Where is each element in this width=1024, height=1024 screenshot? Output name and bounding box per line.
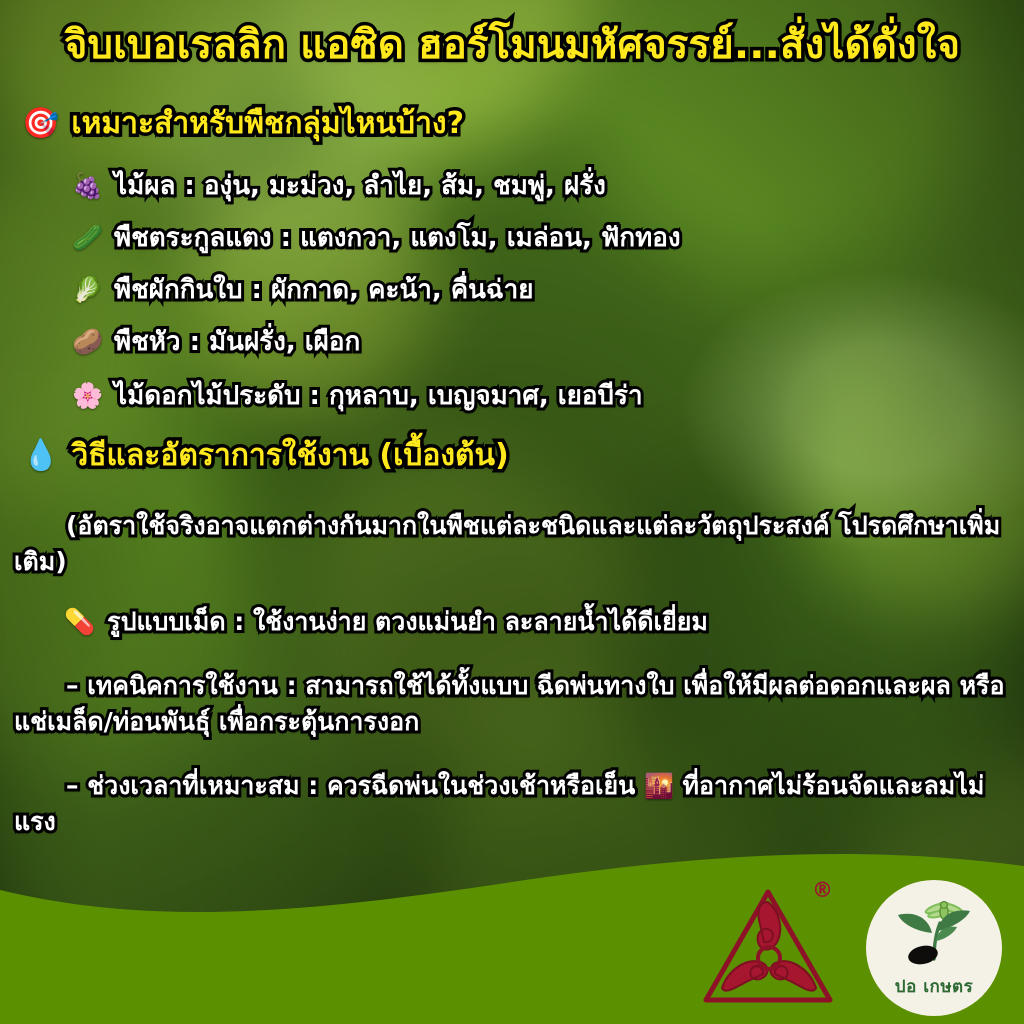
list-item-label: ไม้ผล : องุ่น, มะม่วง, ลำไย, ส้ม, ชมพู่,… bbox=[114, 170, 606, 203]
po-kaset-logo: ปอ เกษตร bbox=[866, 880, 1002, 1016]
grapes-icon: 🍇 bbox=[72, 170, 102, 201]
droplet-icon: 💧 bbox=[22, 441, 59, 471]
tablet-form-label: รูปแบบเม็ด : ใช้งานง่าย ตวงแม่นยำ ละลายน… bbox=[107, 606, 708, 639]
poster-content: จิบเบอเรลลิก แอซิด ฮอร์โมนมหัศจรรย์...สั… bbox=[0, 0, 1024, 1024]
usage-technique-paragraph: – เทคนิคการใช้งาน : สามารถใช้ได้ทั้งแบบ … bbox=[14, 668, 1010, 739]
list-item: 🍇 ไม้ผล : องุ่น, มะม่วง, ลำไย, ส้ม, ชมพู… bbox=[72, 170, 606, 203]
usage-timing-text-before: – ช่วงเวลาที่เหมาะสม : ควรฉีดพ่นในช่วงเช… bbox=[66, 771, 644, 800]
list-item: 🥔 พืชหัว : มันฝรั่ง, เผือก bbox=[72, 326, 360, 359]
poster-canvas: จิบเบอเรลลิก แอซิด ฮอร์โมนมหัศจรรย์...สั… bbox=[0, 0, 1024, 1024]
cherry-blossom-icon: 🌸 bbox=[72, 380, 102, 411]
leafy-green-icon: 🥬 bbox=[72, 274, 102, 305]
sprout-dragonfly-icon bbox=[892, 897, 976, 971]
list-item-label: พืชตระกูลแตง : แตงกวา, แตงโม, เมล่อน, ฟั… bbox=[114, 222, 681, 255]
potato-icon: 🥔 bbox=[72, 326, 102, 357]
brand-name-label: ปอ เกษตร bbox=[895, 973, 973, 1000]
section-2-heading: 💧 วิธีและอัตราการใช้งาน (เบื้องต้น) bbox=[22, 438, 509, 474]
cucumber-icon: 🥒 bbox=[72, 222, 102, 253]
list-item-label: ไม้ดอกไม้ประดับ : กุหลาบ, เบญจมาศ, เยอบี… bbox=[114, 380, 643, 413]
sunset-over-buildings-icon: 🌇 bbox=[644, 772, 674, 800]
usage-timing-paragraph: – ช่วงเวลาที่เหมาะสม : ควรฉีดพ่นในช่วงเช… bbox=[14, 768, 1010, 839]
list-item: 🥬 พืชผักกินใบ : ผักกาด, คะน้า, คื่นฉ่าย bbox=[72, 274, 533, 307]
tablet-form-row: 💊 รูปแบบเม็ด : ใช้งานง่าย ตวงแม่นยำ ละลา… bbox=[64, 606, 1004, 639]
section-2-heading-text: วิธีและอัตราการใช้งาน (เบื้องต้น) bbox=[71, 438, 508, 474]
trefoil-trademark-logo bbox=[698, 884, 838, 1016]
page-title: จิบเบอเรลลิก แอซิด ฮอร์โมนมหัศจรรย์...สั… bbox=[0, 22, 1024, 69]
list-item: 🌸 ไม้ดอกไม้ประดับ : กุหลาบ, เบญจมาศ, เยอ… bbox=[72, 380, 643, 413]
registered-trademark-icon: ® bbox=[812, 878, 833, 902]
pill-icon: 💊 bbox=[64, 606, 95, 639]
dart-icon: 🎯 bbox=[22, 109, 59, 139]
list-item: 🥒 พืชตระกูลแตง : แตงกวา, แตงโม, เมล่อน, … bbox=[72, 222, 681, 255]
section-1-heading-text: เหมาะสำหรับพืชกลุ่มไหนบ้าง? bbox=[71, 106, 464, 142]
usage-rate-note: (อัตราใช้จริงอาจแตกต่างกันมากในพืชแต่ละช… bbox=[14, 508, 1010, 579]
list-item-label: พืชหัว : มันฝรั่ง, เผือก bbox=[114, 326, 360, 359]
section-1-heading: 🎯 เหมาะสำหรับพืชกลุ่มไหนบ้าง? bbox=[22, 106, 464, 142]
list-item-label: พืชผักกินใบ : ผักกาด, คะน้า, คื่นฉ่าย bbox=[114, 274, 533, 307]
